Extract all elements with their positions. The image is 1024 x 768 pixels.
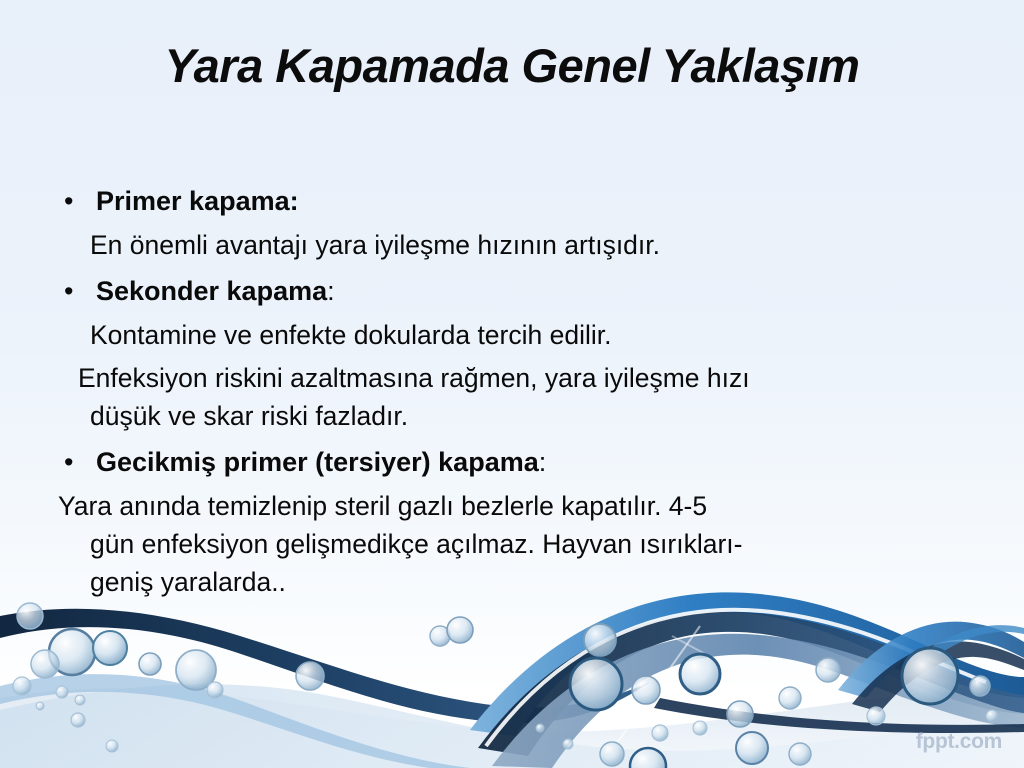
bullet-heading-gecikmis: Gecikmiş primer (tersiyer) kapama — [96, 447, 539, 477]
bullet-item-sekonder-kapama: • Sekonder kapama: — [58, 270, 978, 312]
body-line-gecikmis-2: gün enfeksiyon gelişmedikçe açılmaz. Hay… — [58, 525, 978, 563]
body-line-gecikmis-1: Yara anında temizlenip steril gazlı bezl… — [58, 487, 978, 525]
bullet-item-gecikmis-primer: • Gecikmiş primer (tersiyer) kapama: — [58, 441, 978, 483]
bullet-heading-gecikmis-colon: : — [539, 447, 547, 477]
bullet-dot-icon: • — [64, 180, 73, 222]
bullet-heading-primer: Primer kapama: — [96, 186, 299, 216]
body-line-enfeksiyon-2: düşük ve skar riski fazladır. — [58, 397, 978, 435]
body-line-primer-detail: En önemli avantajı yara iyileşme hızının… — [58, 226, 978, 264]
presentation-slide: Yara Kapamada Genel Yaklaşım • Primer ka… — [0, 0, 1024, 768]
bullet-heading-sekonder: Sekonder kapama — [96, 276, 327, 306]
bullet-item-primer-kapama: • Primer kapama: — [58, 180, 978, 222]
bullet-dot-icon: • — [64, 441, 73, 483]
body-line-enfeksiyon-1: Enfeksiyon riskini azaltmasına rağmen, y… — [58, 359, 978, 397]
body-line-sekonder-detail: Kontamine ve enfekte dokularda tercih ed… — [58, 316, 978, 354]
slide-body: • Primer kapama: En önemli avantajı yara… — [58, 180, 978, 601]
slide-title: Yara Kapamada Genel Yaklaşım — [0, 42, 1024, 89]
wave-decoration-graphic — [0, 578, 1024, 768]
fppt-watermark: fppt.com — [916, 730, 1002, 754]
bullet-dot-icon: • — [64, 270, 73, 312]
bullet-heading-sekonder-colon: : — [327, 276, 335, 306]
